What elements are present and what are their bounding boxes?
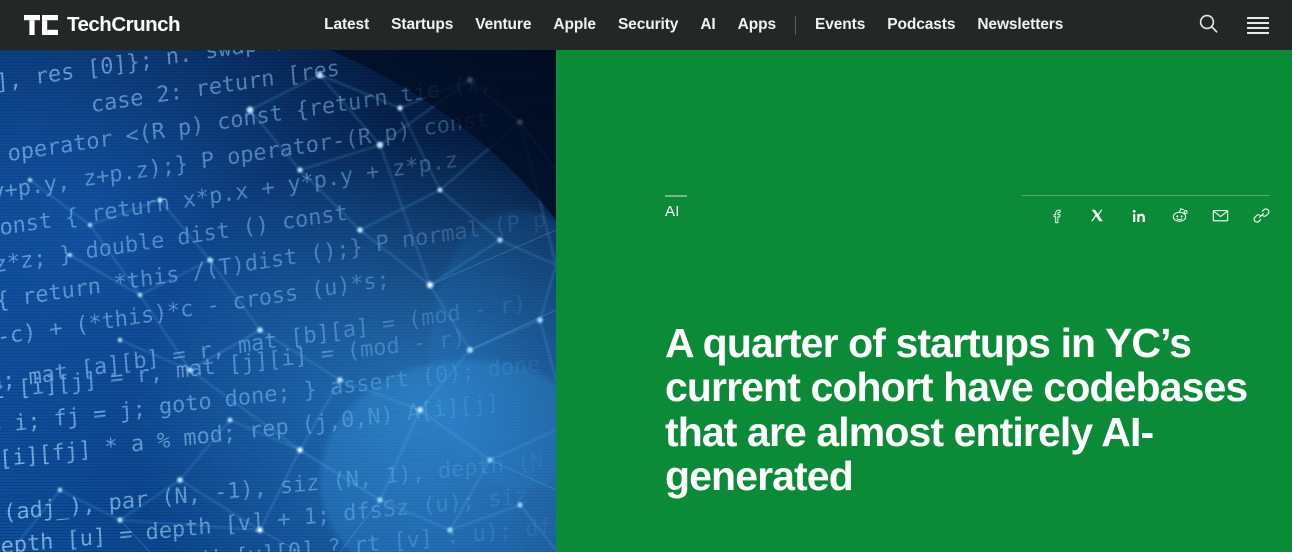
nav-item-security[interactable]: Security [607, 17, 689, 33]
share-rule [1022, 195, 1270, 196]
menu-button[interactable] [1246, 13, 1270, 37]
share-x-button[interactable] [1089, 207, 1106, 224]
linkedin-icon [1131, 208, 1147, 224]
tc-monogram-icon [24, 15, 58, 35]
envelope-icon [1212, 207, 1229, 224]
nav-item-podcasts[interactable]: Podcasts [876, 17, 966, 33]
nav-item-startups[interactable]: Startups [380, 17, 464, 33]
share-email-button[interactable] [1212, 207, 1229, 224]
share-reddit-button[interactable] [1171, 207, 1188, 224]
nav-item-newsletters[interactable]: Newsletters [966, 17, 1074, 33]
nav-item-events[interactable]: Events [804, 17, 876, 33]
article-hero: [0], res [0]}; n. swap (endA, endB case … [0, 50, 1292, 552]
article-category-link[interactable]: AI [665, 204, 680, 219]
article-headline: A quarter of startups in YC’s current co… [665, 321, 1275, 498]
hamburger-menu-icon [1247, 17, 1269, 34]
nav-item-ai[interactable]: AI [689, 17, 726, 33]
site-logo-wordmark: TechCrunch [67, 15, 180, 36]
x-twitter-icon [1090, 208, 1106, 224]
header-actions [1196, 0, 1270, 50]
hero-image: [0], res [0]}; n. swap (endA, endB case … [0, 50, 556, 552]
nav-divider [795, 16, 796, 35]
nav-item-venture[interactable]: Venture [464, 17, 542, 33]
hero-content: AI [556, 50, 1292, 552]
nav-item-latest[interactable]: Latest [313, 17, 380, 33]
search-icon [1198, 13, 1219, 37]
share-buttons [1048, 207, 1270, 224]
copy-link-button[interactable] [1253, 207, 1270, 224]
facebook-icon [1049, 208, 1065, 224]
search-button[interactable] [1196, 13, 1220, 37]
nav-item-apple[interactable]: Apple [542, 17, 607, 33]
site-header: TechCrunch Latest Startups Venture Apple… [0, 0, 1292, 50]
link-icon [1253, 207, 1270, 224]
article-meta-row: AI [665, 195, 1270, 235]
share-facebook-button[interactable] [1048, 207, 1065, 224]
nav-item-apps[interactable]: Apps [727, 17, 787, 33]
reddit-icon [1171, 207, 1188, 224]
category-rule [665, 195, 687, 197]
main-navigation: Latest Startups Venture Apple Security A… [313, 16, 1074, 35]
site-logo-link[interactable]: TechCrunch [24, 15, 180, 36]
share-linkedin-button[interactable] [1130, 207, 1147, 224]
